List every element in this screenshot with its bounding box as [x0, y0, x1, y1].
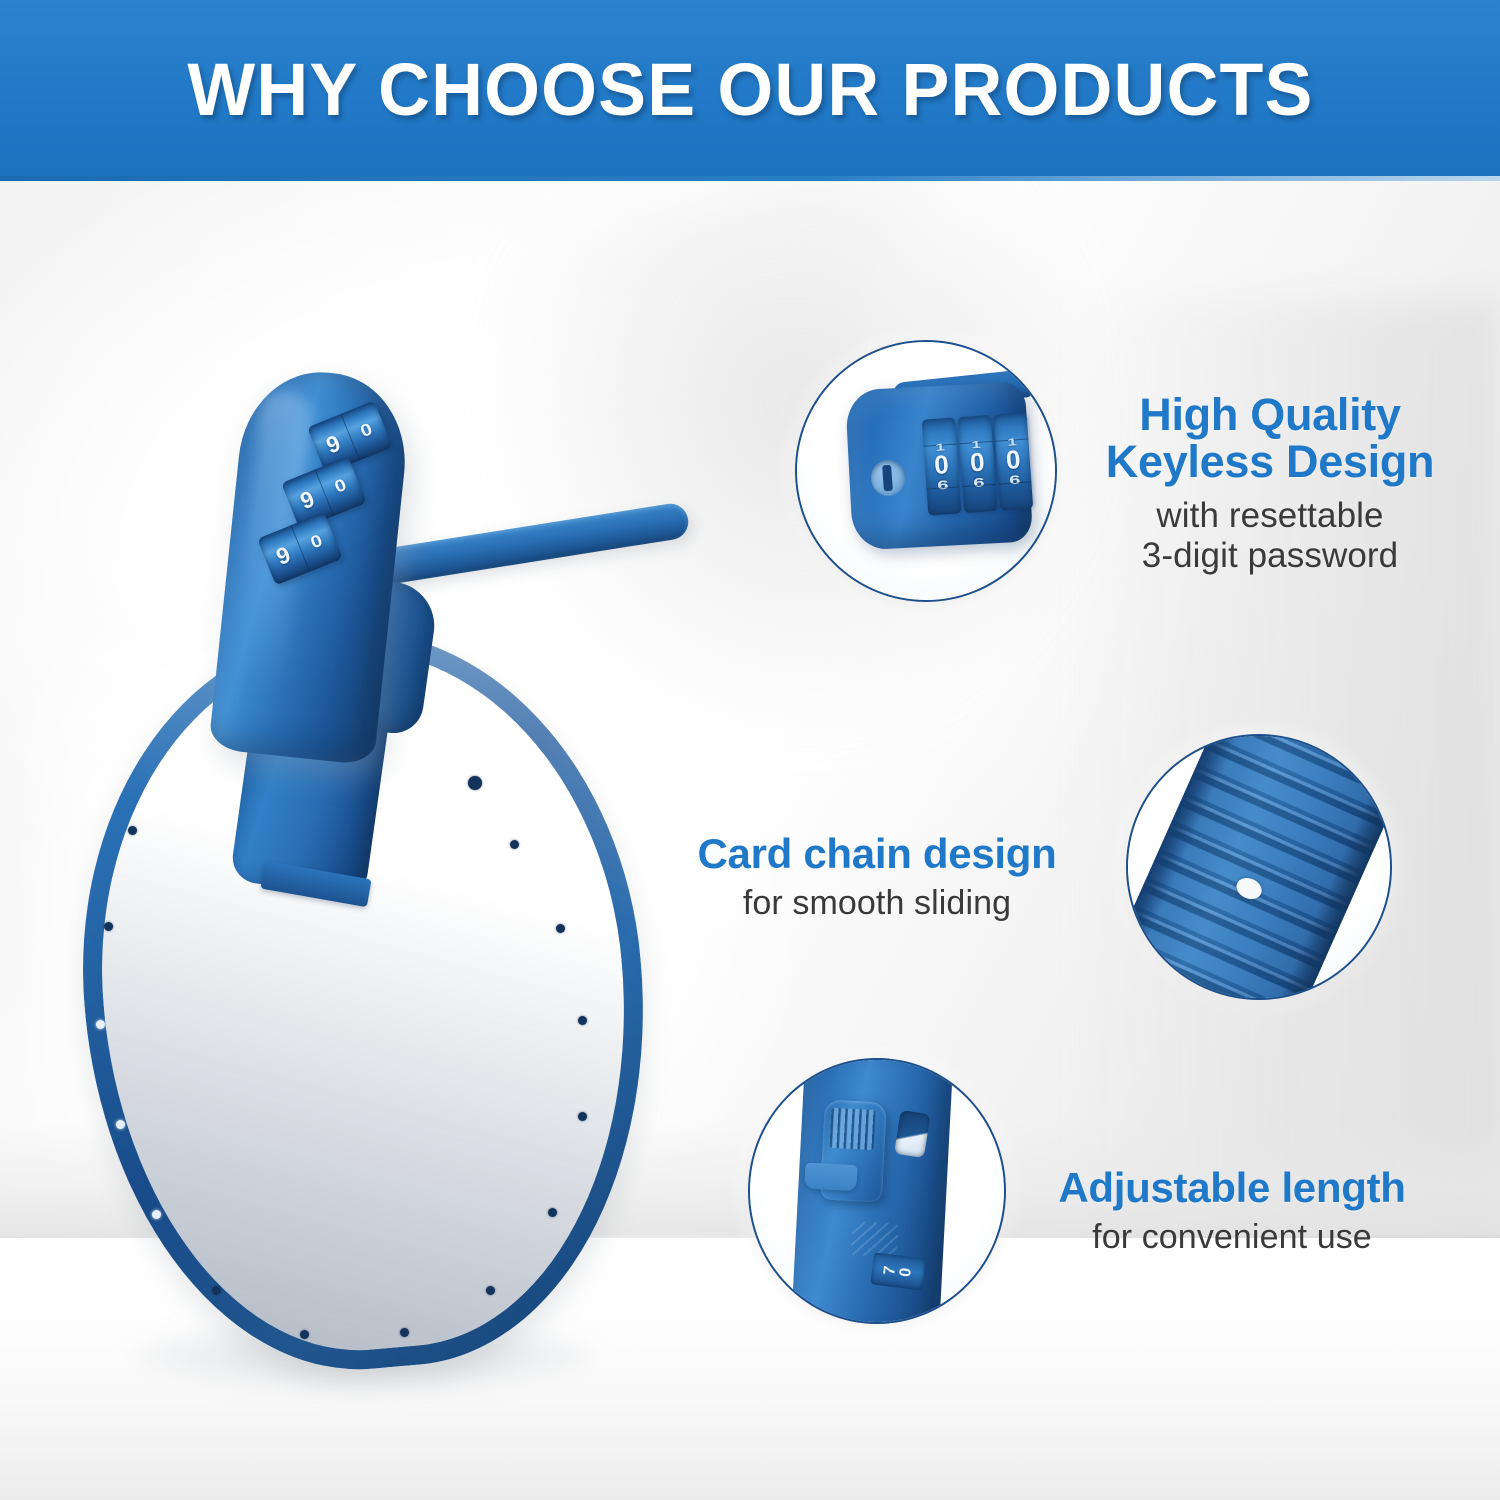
strap-hole: [548, 1208, 557, 1217]
mini-dial: 7 0: [870, 1252, 926, 1290]
strap-hole: [96, 1020, 105, 1029]
feature-block-adjustable-length: Adjustable length for convenient use: [1022, 1166, 1442, 1257]
embossed-marking: [851, 1221, 899, 1257]
callout-lock-head: 1 0 9 1 0 9 1 0 9: [795, 340, 1057, 602]
mini-dial-digit-2: 0: [897, 1267, 916, 1278]
feature-2-subtitle: for smooth sliding: [672, 884, 1082, 923]
strap-hole: [510, 840, 519, 849]
feature-1-sub-line2: 3-digit password: [1070, 536, 1470, 577]
strap-hole: [578, 1112, 587, 1121]
strap-hole: [468, 776, 482, 790]
strap-hole: [104, 922, 113, 931]
feature-1-title-line1: High Quality: [1070, 392, 1470, 439]
product-infographic: WHY CHOOSE OUR PRODUCTS 9: [0, 0, 1500, 1500]
banner-title: WHY CHOOSE OUR PRODUCTS: [187, 49, 1313, 127]
header-banner: WHY CHOOSE OUR PRODUCTS: [0, 0, 1500, 176]
lock-body-column: 7 0: [790, 1058, 953, 1324]
callout-dial-2: 1 0 9: [958, 415, 998, 513]
strap-slot-window: [894, 1110, 931, 1158]
callout-dial-1-top: 1: [935, 442, 945, 452]
feature-3-title-line1: Adjustable length: [1022, 1166, 1442, 1210]
feature-1-sub-line1: with resettable: [1070, 496, 1470, 537]
callout-dials: 1 0 9 1 0 9 1 0 9: [922, 412, 1034, 515]
combination-dials: 9 0 9 0 9 0: [258, 405, 428, 620]
strap-hole: [400, 1328, 409, 1337]
callout-dial-2-bottom: 9: [973, 476, 985, 489]
callout-adjustable-slider: 7 0: [748, 1058, 1006, 1324]
dial-3: 9 0: [257, 512, 342, 585]
strap-hole: [300, 1330, 309, 1339]
feature-1-title: High Quality Keyless Design: [1070, 392, 1470, 486]
callout-dial-3-value: 0: [1005, 447, 1021, 473]
slider-grip-ridges: [829, 1108, 875, 1150]
feature-3-subtitle: for convenient use: [1022, 1218, 1442, 1257]
feature-3-title: Adjustable length: [1022, 1166, 1442, 1210]
strap-hole: [116, 1120, 125, 1129]
feature-1-title-line2: Keyless Design: [1070, 439, 1470, 486]
callout-card-chain: [1126, 734, 1392, 1000]
callout-dial-3: 1 0 9: [994, 412, 1034, 510]
feature-1-subtitle: with resettable 3-digit password: [1070, 496, 1470, 577]
feature-2-title: Card chain design: [672, 832, 1082, 876]
strap-hole: [556, 924, 565, 933]
strap-hole: [212, 1286, 221, 1295]
feature-block-keyless-design: High Quality Keyless Design with resetta…: [1070, 392, 1470, 577]
feature-block-card-chain: Card chain design for smooth sliding: [672, 832, 1082, 923]
product-photo: 9 0 9 0 9 0: [0, 180, 760, 1400]
callout-dial-1-bottom: 9: [937, 478, 949, 491]
strap-hole: [152, 1210, 161, 1219]
feature-3-sub-line1: for convenient use: [1022, 1218, 1442, 1257]
callout-dial-2-value: 0: [969, 449, 985, 475]
callout-dial-2-top: 1: [971, 440, 981, 450]
slider-tab: [804, 1162, 857, 1191]
strap-hole: [128, 826, 137, 835]
strap-hole: [578, 1016, 587, 1025]
callout-dial-3-top: 1: [1007, 437, 1017, 447]
callout-dial-1-value: 0: [933, 452, 949, 478]
feature-2-title-line1: Card chain design: [672, 832, 1082, 876]
strap-hole: [486, 1286, 495, 1295]
feature-2-sub-line1: for smooth sliding: [672, 884, 1082, 923]
callout-dial-3-bottom: 9: [1009, 473, 1021, 486]
callout-dial-1: 1 0 9: [922, 418, 962, 516]
